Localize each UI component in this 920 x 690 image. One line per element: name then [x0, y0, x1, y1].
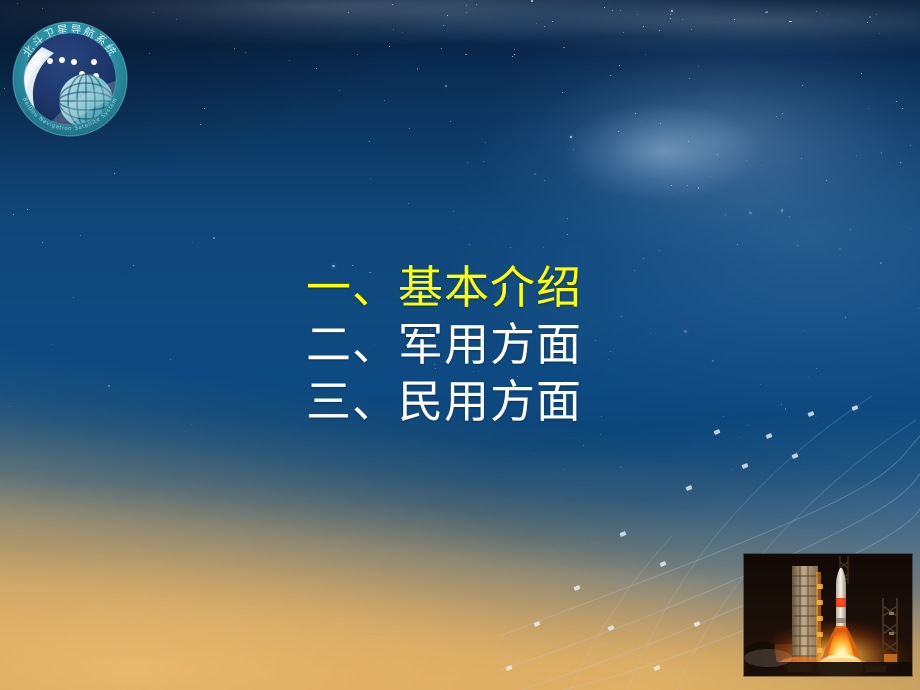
star-dot: [717, 154, 718, 155]
star-dot: [462, 227, 463, 228]
star-dot: [80, 235, 81, 236]
star-dot: [619, 65, 620, 66]
star-dot: [52, 344, 53, 345]
star-dot: [153, 12, 154, 13]
rocket-launch-image: [744, 554, 912, 676]
star-dot: [339, 90, 340, 91]
star-dot: [789, 216, 790, 217]
beidou-logo: 北斗卫星导航系统 BeiDou Navigation Satellite Sys…: [8, 17, 132, 141]
star-dot: [564, 469, 565, 470]
star-dot: [544, 26, 545, 27]
star-dot: [445, 85, 447, 87]
star-dot: [514, 54, 515, 55]
star-dot: [791, 21, 792, 22]
star-dot: [567, 218, 568, 219]
star-dot: [191, 424, 192, 425]
star-dot: [483, 161, 484, 162]
star-dot: [671, 10, 673, 12]
star-dot: [710, 176, 711, 177]
star-dot: [348, 12, 349, 13]
star-dot: [469, 244, 470, 245]
presentation-slide: 北斗卫星导航系统 BeiDou Navigation Satellite Sys…: [0, 0, 920, 690]
star-dot: [114, 173, 115, 174]
service-tower: [792, 566, 823, 666]
star-dot: [876, 14, 877, 15]
star-dot: [801, 158, 802, 159]
star-dot: [563, 47, 565, 49]
star-dot: [338, 443, 339, 444]
star-dot: [13, 214, 14, 215]
star-dot: [856, 155, 857, 156]
star-dot: [544, 180, 545, 181]
star-dot: [73, 297, 74, 298]
star-dot: [531, 0, 533, 2]
star-dot: [450, 121, 451, 122]
star-dot: [789, 21, 791, 23]
star-dot: [498, 458, 499, 459]
star-dot: [600, 434, 601, 435]
star-dot: [289, 60, 290, 61]
star-dot: [826, 180, 827, 181]
rocket-vehicle: [836, 568, 846, 630]
star-dot: [384, 100, 385, 101]
star-dot: [567, 234, 569, 236]
star-dot: [802, 85, 803, 86]
star-dot: [200, 124, 201, 125]
star-dot: [534, 173, 536, 175]
star-dot: [512, 56, 513, 57]
star-dot: [623, 32, 624, 33]
star-dot: [749, 212, 751, 214]
star-dot: [781, 209, 783, 211]
star-dot: [466, 5, 467, 6]
star-dot: [570, 136, 572, 138]
star-dot: [918, 308, 919, 309]
star-dot: [765, 12, 766, 13]
star-dot: [485, 142, 486, 143]
star-dot: [213, 237, 215, 239]
star-dot: [408, 203, 409, 204]
beidou-emblem-icon: 北斗卫星导航系统 BeiDou Navigation Satellite Sys…: [8, 17, 132, 141]
agenda-item-1[interactable]: 一、基本介绍: [306, 259, 866, 316]
star-dot: [204, 108, 205, 109]
star-dot: [234, 48, 235, 49]
star-dot: [17, 3, 18, 4]
star-dot: [868, 108, 869, 109]
star-dot: [688, 141, 689, 142]
star-dot: [133, 265, 134, 266]
star-dot: [466, 12, 467, 13]
star-dot: [441, 48, 442, 49]
star-dot: [316, 68, 318, 70]
star-dot: [392, 4, 393, 5]
star-dot: [871, 21, 872, 22]
agenda-list: 一、基本介绍 二、军用方面 三、民用方面: [306, 259, 866, 430]
star-dot: [467, 162, 468, 163]
star-dot: [9, 406, 11, 408]
star-dot: [465, 54, 467, 56]
star-dot: [393, 29, 394, 30]
star-dot: [108, 385, 110, 387]
star-dot: [670, 14, 671, 15]
star-dot: [734, 19, 735, 20]
star-dot: [643, 26, 644, 27]
star-dot: [839, 248, 841, 250]
star-dot: [879, 33, 880, 34]
star-dot: [245, 52, 246, 53]
star-dot: [739, 437, 740, 438]
star-dot: [618, 131, 619, 132]
star-dot: [900, 162, 901, 163]
star-dot: [869, 16, 871, 18]
star-dot: [42, 8, 43, 9]
star-dot: [746, 160, 747, 161]
star-dot: [27, 209, 28, 210]
star-dot: [645, 54, 646, 55]
star-dot: [552, 21, 553, 22]
star-dot: [659, 30, 660, 31]
star-dot: [612, 10, 613, 11]
star-dot: [42, 242, 43, 243]
star-dot: [797, 245, 798, 246]
star-dot: [827, 14, 828, 15]
star-dot: [573, 149, 574, 150]
star-dot: [620, 10, 621, 11]
star-dot: [4, 88, 5, 89]
star-dot: [510, 247, 511, 248]
star-dot: [698, 66, 699, 67]
star-dot: [910, 228, 911, 229]
star-dot: [881, 152, 883, 154]
star-dot: [766, 11, 768, 13]
star-dot: [761, 165, 762, 166]
star-dot: [417, 68, 419, 70]
star-dot: [443, 25, 444, 26]
star-dot: [637, 14, 638, 15]
star-dot: [687, 185, 688, 186]
star-dot: [682, 19, 683, 20]
agenda-item-3[interactable]: 三、民用方面: [306, 373, 866, 430]
star-dot: [861, 73, 862, 74]
star-dot: [369, 141, 370, 142]
star-dot: [453, 211, 454, 212]
star-dot: [776, 116, 777, 117]
star-dot: [402, 32, 403, 33]
star-dot: [514, 49, 515, 50]
star-dot: [746, 432, 747, 433]
star-dot: [357, 54, 358, 55]
star-dot: [620, 466, 622, 468]
star-dot: [691, 29, 692, 30]
star-dot: [782, 113, 783, 114]
star-dot: [670, 18, 671, 19]
star-dot: [731, 469, 732, 470]
star-dot: [910, 145, 911, 146]
star-dot: [816, 11, 817, 12]
star-dot: [370, 178, 371, 179]
star-dot: [896, 101, 897, 102]
star-dot: [604, 7, 605, 8]
star-dot: [583, 445, 584, 446]
star-dot: [725, 214, 727, 216]
star-dot: [176, 19, 177, 20]
star-dot: [536, 23, 537, 24]
star-dot: [409, 128, 410, 129]
star-dot: [476, 4, 477, 5]
star-dot: [149, 53, 150, 54]
star-dot: [880, 262, 882, 264]
star-dot: [192, 242, 193, 243]
rocket-launch-photo: [744, 554, 912, 676]
star-dot: [389, 46, 390, 47]
star-dot: [635, 113, 636, 114]
agenda-item-2[interactable]: 二、军用方面: [306, 316, 866, 373]
star-dot: [850, 229, 852, 231]
star-dot: [803, 462, 804, 463]
star-dot: [543, 247, 544, 248]
star-dot: [562, 92, 563, 93]
star-dot: [867, 22, 868, 23]
star-dot: [534, 453, 535, 454]
star-dot: [737, 244, 738, 245]
star-dot: [671, 185, 672, 186]
star-dot: [660, 123, 661, 124]
star-dot: [447, 15, 448, 16]
star-dot: [698, 187, 700, 189]
star-dot: [170, 359, 171, 360]
star-dot: [610, 75, 611, 76]
star-dot: [659, 250, 661, 252]
star-dot: [902, 108, 903, 109]
star-dot: [689, 78, 690, 79]
